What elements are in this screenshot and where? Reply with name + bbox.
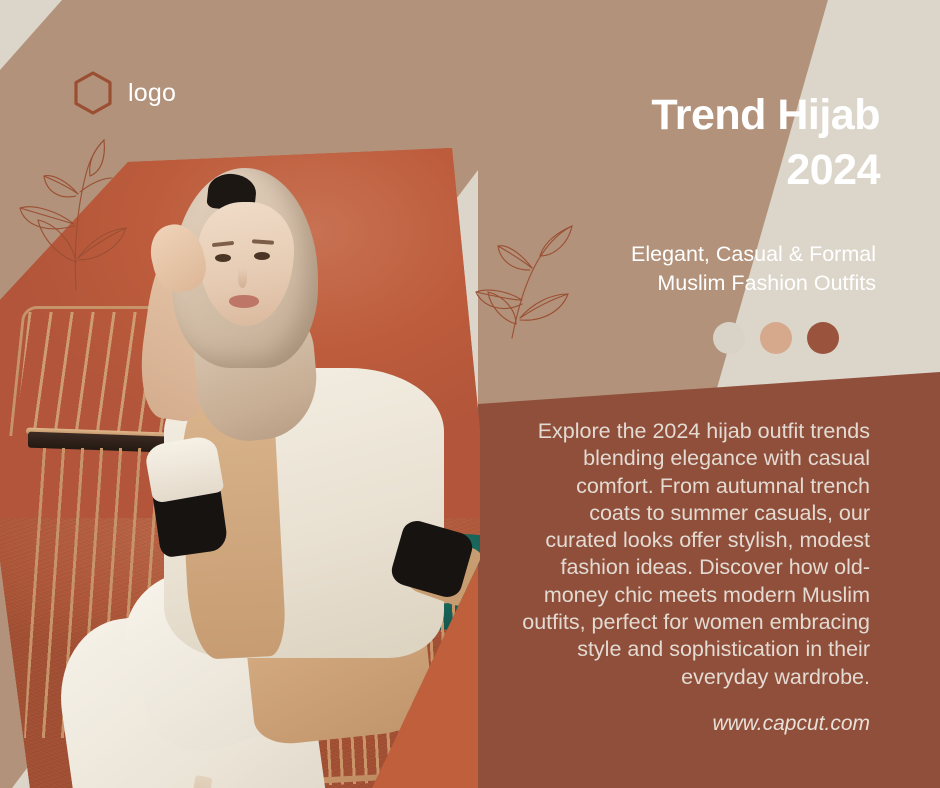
subtitle-line-1: Elegant, Casual & Formal <box>546 240 876 269</box>
body-copy: Explore the 2024 hijab outfit trends ble… <box>520 418 870 691</box>
subtitle-line-2: Muslim Fashion Outfits <box>546 269 876 298</box>
color-swatch-group <box>713 322 839 354</box>
logo-text: logo <box>128 81 176 106</box>
title-line-2: 2024 <box>560 143 880 198</box>
page-title: Trend Hijab 2024 <box>560 88 880 198</box>
model-lips <box>229 295 259 308</box>
subtitle: Elegant, Casual & Formal Muslim Fashion … <box>546 240 876 297</box>
logo[interactable]: logo <box>72 70 176 116</box>
title-line-1: Trend Hijab <box>560 88 880 143</box>
model-eye-right <box>254 252 270 260</box>
swatch-rust[interactable] <box>807 322 839 354</box>
poster-canvas: logo Trend Hijab 2024 Elegant, Casual & … <box>0 0 940 788</box>
model-eye-left <box>215 254 231 262</box>
swatch-salmon-tan[interactable] <box>760 322 792 354</box>
swatch-cream[interactable] <box>713 322 745 354</box>
hexagon-outline-icon <box>72 70 114 116</box>
site-url[interactable]: www.capcut.com <box>520 712 870 736</box>
model-nose <box>238 268 247 288</box>
